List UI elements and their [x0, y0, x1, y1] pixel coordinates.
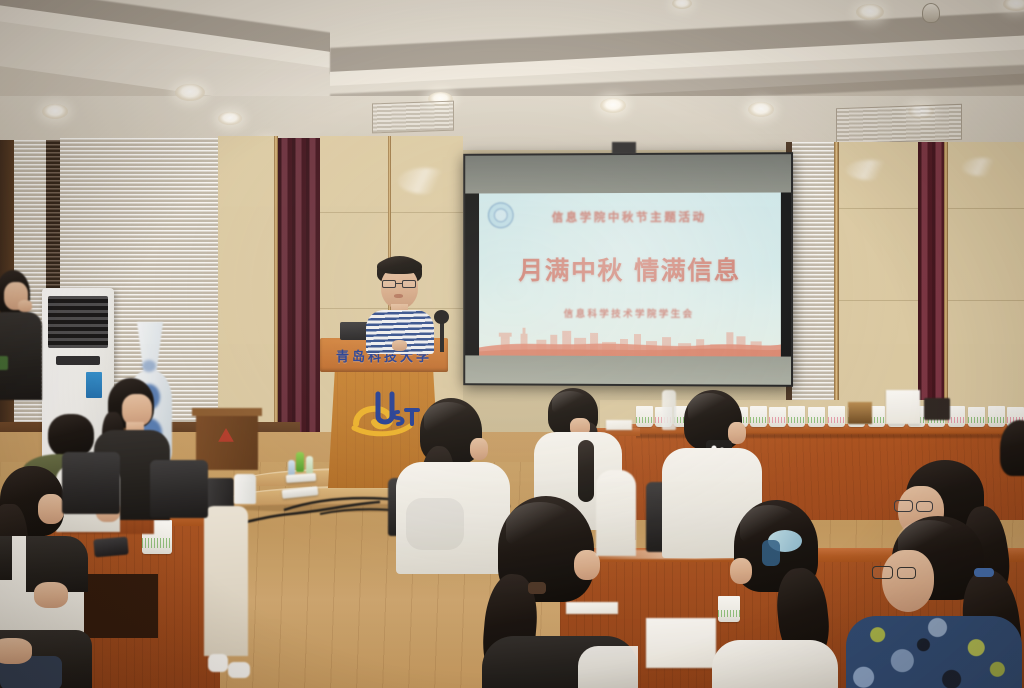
ac-display-panel — [56, 356, 100, 365]
beverage-bottle — [296, 452, 304, 472]
hair-tie — [974, 568, 994, 577]
projection-screen: 信息学院中秋节主题活动 月满中秋 情满信息 信息科学技术学院学生会 — [463, 152, 793, 387]
eyeglasses-icon — [872, 566, 918, 579]
downlight — [42, 104, 68, 119]
attendee-back-left-standing — [0, 270, 52, 400]
ceiling-air-vent — [372, 101, 454, 134]
screen-mount — [612, 142, 636, 154]
stage-curtain-left — [278, 138, 322, 468]
presentation-slide: 信息学院中秋节主题活动 月满中秋 情满信息 信息科学技术学院学生会 — [479, 192, 781, 356]
downlight — [600, 98, 626, 113]
chair[interactable] — [150, 460, 208, 518]
downlight — [175, 84, 205, 101]
screen-lower-blank — [465, 355, 791, 384]
hair-bow — [762, 540, 780, 566]
screen-upper-blank — [465, 154, 791, 193]
tissue-box — [886, 390, 920, 424]
eyeglasses-icon — [382, 280, 416, 288]
lecture-hall-photo: 信息学院中秋节主题活动 月满中秋 情满信息 信息科学技术学院学生会 — [0, 0, 1024, 688]
city-skyline-graphic — [479, 322, 781, 357]
chair[interactable] — [62, 452, 120, 514]
attendee-partial-white-shirt — [596, 470, 636, 556]
downlight — [218, 112, 242, 125]
hair-tie — [528, 582, 546, 594]
attendee-far-right-camo — [846, 520, 1024, 688]
window-blinds[interactable] — [790, 142, 834, 432]
smoke-detector-icon — [922, 3, 940, 23]
slide-header-text: 信息学院中秋节主题活动 — [479, 209, 781, 226]
cabinet-top — [192, 408, 262, 416]
ac-grille — [48, 296, 108, 348]
attendee-right-blue-bow — [706, 500, 846, 688]
downlight — [748, 102, 774, 117]
eyeglasses-icon — [894, 500, 934, 512]
presenter-at-podium — [352, 256, 448, 352]
slide-subtitle-text: 信息科学技术学院学生会 — [479, 306, 781, 321]
downlight — [856, 4, 884, 20]
small-box — [848, 402, 872, 424]
slide-title-text: 月满中秋 情满信息 — [479, 251, 781, 287]
dark-object — [924, 398, 950, 420]
camouflage-uniform — [846, 616, 1022, 688]
light-top — [712, 640, 838, 688]
ceiling-air-vent — [836, 104, 962, 144]
attendee-standing-pale-trousers — [198, 506, 254, 688]
